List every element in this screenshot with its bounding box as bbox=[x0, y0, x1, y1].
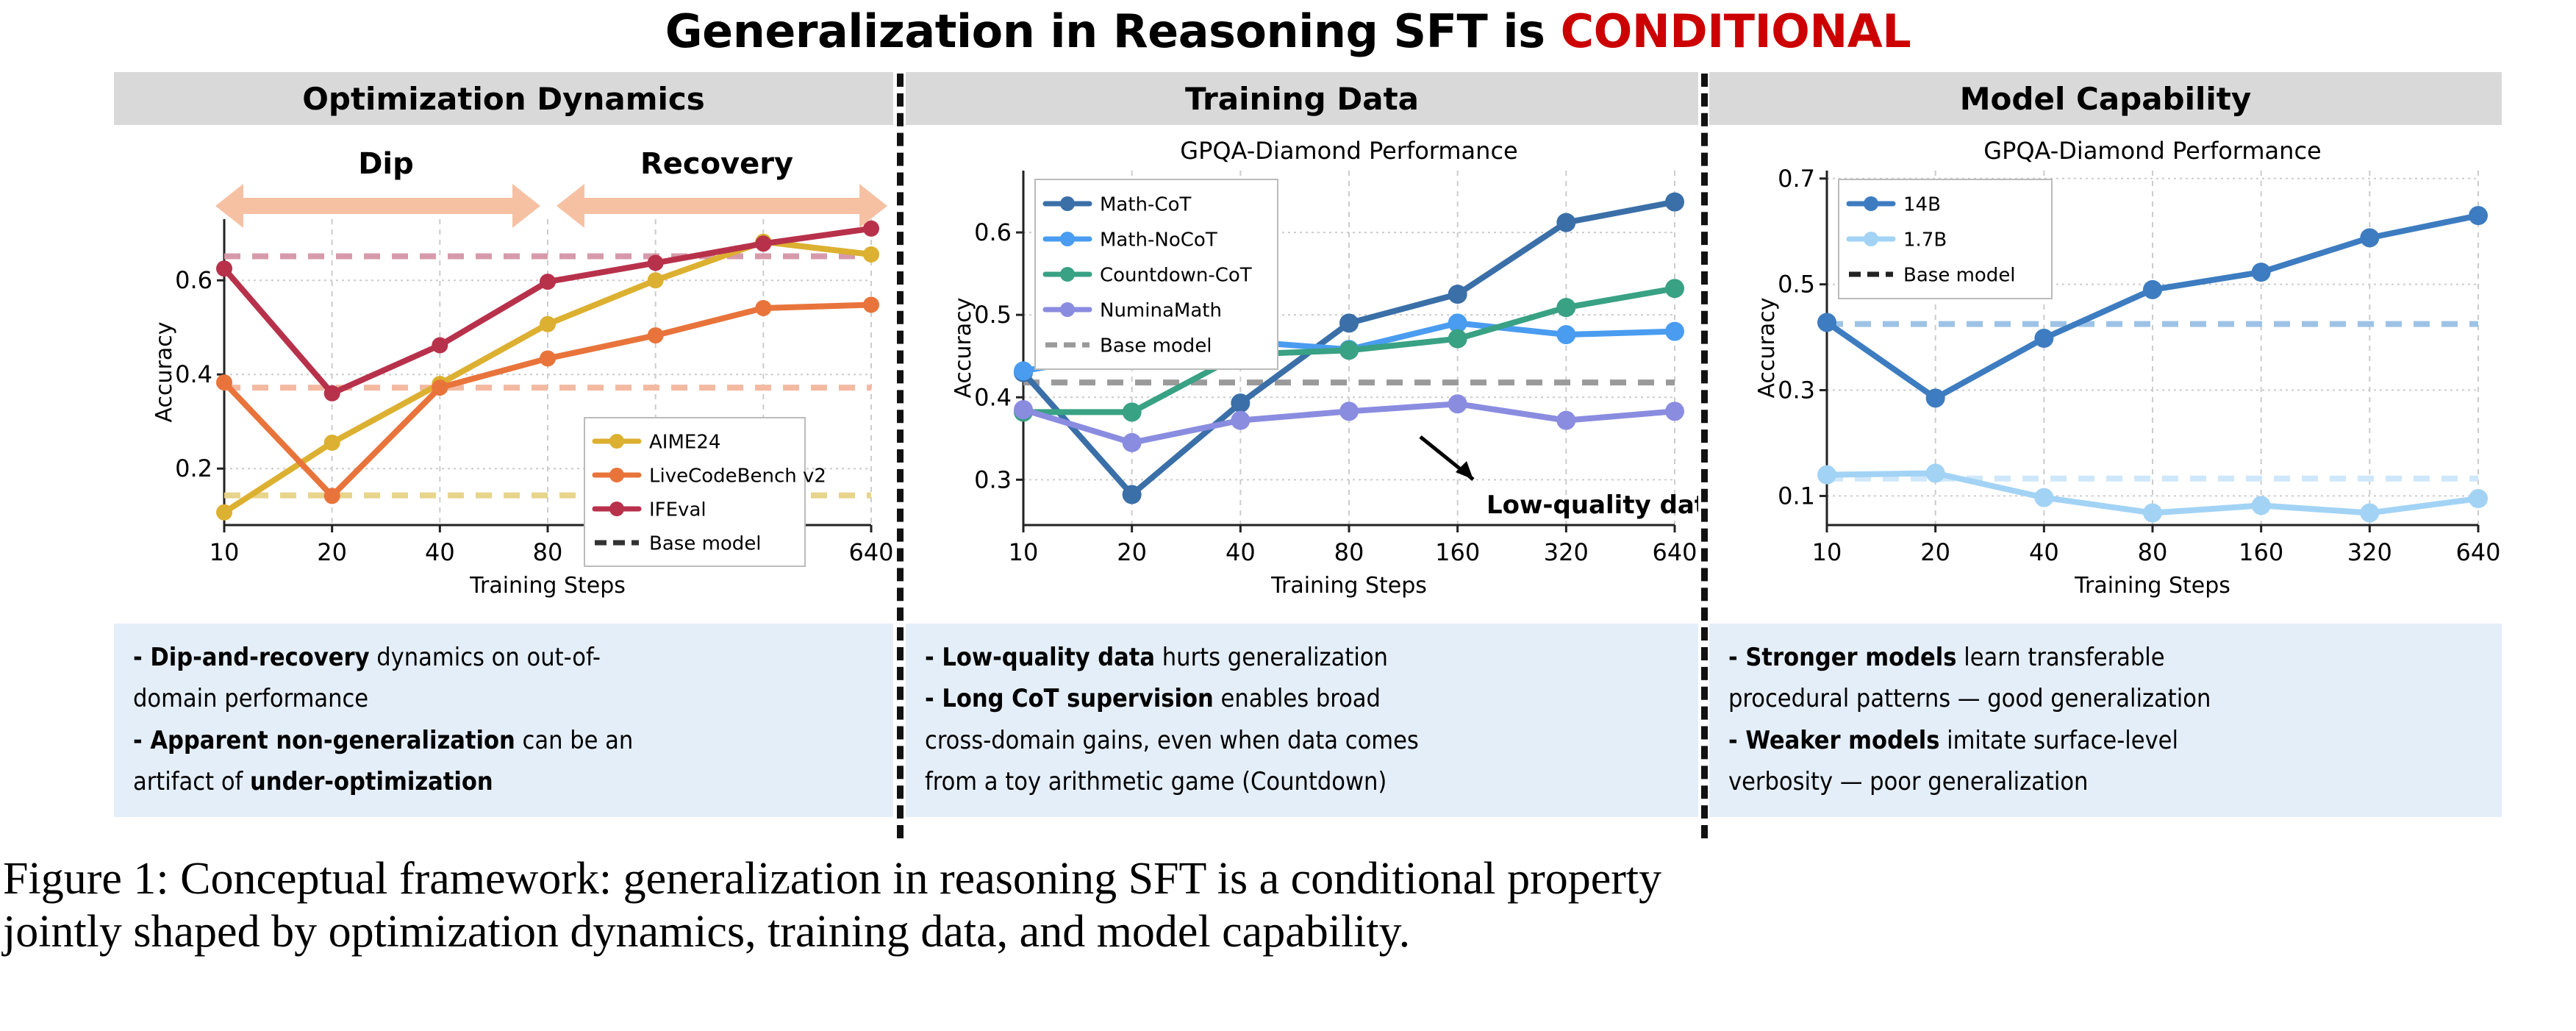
x-tick-label: 640 bbox=[1652, 538, 1697, 566]
data-point bbox=[1665, 322, 1684, 341]
note-bold: - Apparent non-generalization bbox=[133, 726, 515, 755]
data-point bbox=[1665, 193, 1684, 212]
note-line: - Dip-and-recovery dynamics on out-of- bbox=[133, 640, 874, 675]
x-axis-label: Training Steps bbox=[2074, 573, 2230, 599]
note-text: verbosity — poor generalization bbox=[1728, 767, 2088, 796]
data-point bbox=[1556, 325, 1575, 344]
legend-label: Base model bbox=[1903, 265, 2016, 287]
data-point bbox=[1123, 433, 1142, 452]
y-tick-label: 0.5 bbox=[1778, 271, 1815, 299]
caption-line-2: jointly shaped by optimization dynamics,… bbox=[3, 906, 2573, 959]
note-line: domain performance bbox=[133, 681, 874, 716]
notes-training-data: - Low-quality data hurts generalization … bbox=[906, 624, 1698, 817]
data-point bbox=[863, 296, 879, 313]
data-point bbox=[1665, 279, 1684, 298]
data-point bbox=[2360, 228, 2379, 247]
note-text: can be an bbox=[515, 726, 633, 755]
data-point bbox=[1817, 465, 1836, 485]
band-label: Recovery bbox=[640, 147, 793, 181]
legend-marker bbox=[609, 434, 624, 449]
x-tick-label: 20 bbox=[1117, 538, 1147, 566]
data-point bbox=[1448, 329, 1467, 349]
legend-label: Countdown-CoT bbox=[1100, 265, 1252, 287]
legend-label: NuminaMath bbox=[1100, 300, 1222, 322]
data-point bbox=[2360, 503, 2379, 522]
legend-label: LiveCodeBench v2 bbox=[649, 465, 826, 487]
data-point bbox=[648, 255, 664, 271]
data-point bbox=[540, 274, 556, 290]
x-tick-label: 320 bbox=[2347, 538, 2392, 566]
data-point bbox=[1926, 388, 1945, 407]
data-point bbox=[432, 338, 448, 354]
data-point bbox=[432, 379, 448, 396]
notes-model-capability: - Stronger models learn transferable pro… bbox=[1709, 624, 2502, 817]
annotation-low-quality-data: Low-quality data bbox=[1486, 490, 1698, 520]
data-point bbox=[1014, 361, 1033, 380]
note-text: artifact of bbox=[133, 767, 250, 796]
note-line: from a toy arithmetic game (Countdown) bbox=[925, 764, 1679, 799]
legend-label: Math-NoCoT bbox=[1100, 229, 1217, 251]
chart-title: GPQA-Diamond Performance bbox=[1180, 137, 1517, 165]
note-line: - Weaker models imitate surface-level bbox=[1728, 723, 2483, 758]
legend-label: IFEval bbox=[649, 499, 706, 521]
panel-divider-2 bbox=[1701, 74, 1708, 838]
double-arrow-icon bbox=[215, 184, 540, 228]
data-point bbox=[2252, 263, 2271, 282]
y-axis-label: Accuracy bbox=[1754, 298, 1780, 399]
chart-legend: 14B1.7BBase model bbox=[1839, 179, 2052, 299]
data-point bbox=[2469, 206, 2488, 225]
title-main: Generalization in Reasoning SFT is bbox=[665, 4, 1561, 58]
page-title: Generalization in Reasoning SFT is CONDI… bbox=[0, 4, 2576, 58]
data-point bbox=[863, 246, 879, 263]
data-point bbox=[1556, 411, 1575, 430]
caption-line-1: Figure 1: Conceptual framework: generali… bbox=[3, 853, 2573, 906]
note-bold: - Weaker models bbox=[1728, 726, 1939, 755]
panel-header-model-capability: Model Capability bbox=[1709, 72, 2502, 125]
note-line: cross-domain gains, even when data comes bbox=[925, 723, 1679, 758]
x-tick-label: 80 bbox=[533, 538, 563, 566]
y-tick-label: 0.5 bbox=[974, 301, 1012, 329]
legend-label: Math-CoT bbox=[1100, 194, 1191, 216]
data-point bbox=[2143, 503, 2162, 522]
legend-marker bbox=[1864, 232, 1878, 246]
x-tick-label: 640 bbox=[2455, 538, 2500, 566]
x-tick-label: 40 bbox=[1226, 538, 1256, 566]
data-point bbox=[1339, 313, 1359, 332]
band-label: Dip bbox=[358, 147, 414, 181]
note-text: learn transferable bbox=[1957, 643, 2165, 672]
note-bold: - Stronger models bbox=[1728, 643, 1957, 672]
legend-marker bbox=[1060, 267, 1075, 282]
data-point bbox=[1448, 394, 1467, 413]
note-text: from a toy arithmetic game (Countdown) bbox=[925, 767, 1387, 796]
data-point bbox=[755, 300, 771, 316]
data-point bbox=[2034, 488, 2053, 507]
legend-label: AIME24 bbox=[649, 431, 720, 453]
data-point bbox=[540, 350, 556, 366]
x-tick-label: 160 bbox=[1435, 538, 1480, 566]
y-tick-label: 0.1 bbox=[1778, 482, 1815, 510]
chart-legend: Math-CoTMath-NoCoTCountdown-CoTNuminaMat… bbox=[1035, 179, 1278, 369]
note-line: - Low-quality data hurts generalization bbox=[925, 640, 1679, 675]
y-axis-label: Accuracy bbox=[951, 298, 976, 399]
note-text: cross-domain gains, even when data comes bbox=[925, 726, 1419, 755]
data-point bbox=[216, 260, 232, 277]
y-tick-label: 0.4 bbox=[175, 360, 212, 388]
panel-header-training-data: Training Data bbox=[906, 72, 1698, 125]
panel-training-data: Training Data GPQA-Diamond Performance0.… bbox=[906, 72, 1698, 817]
note-text: enables broad bbox=[1214, 684, 1381, 713]
legend-marker bbox=[609, 502, 624, 516]
x-tick-label: 320 bbox=[1544, 538, 1589, 566]
x-tick-label: 640 bbox=[848, 538, 893, 566]
note-text: hurts generalization bbox=[1155, 643, 1388, 672]
x-tick-label: 20 bbox=[317, 538, 347, 566]
legend-marker bbox=[1060, 302, 1075, 317]
y-tick-label: 0.6 bbox=[175, 266, 212, 294]
data-point bbox=[216, 504, 232, 521]
panel-model-capability: Model Capability GPQA-Diamond Performanc… bbox=[1709, 72, 2502, 817]
note-text: imitate surface-level bbox=[1939, 726, 2178, 755]
y-tick-label: 0.3 bbox=[974, 465, 1012, 493]
data-point bbox=[324, 435, 340, 451]
y-tick-label: 0.2 bbox=[175, 454, 212, 482]
title-highlight: CONDITIONAL bbox=[1561, 4, 1911, 58]
data-point bbox=[1448, 285, 1467, 304]
note-line: procedural patterns — good generalizatio… bbox=[1728, 681, 2483, 716]
legend-marker bbox=[1060, 196, 1075, 211]
note-bold: - Dip-and-recovery bbox=[133, 643, 370, 672]
notes-optimization-dynamics: - Dip-and-recovery dynamics on out-of- d… bbox=[114, 624, 893, 817]
x-tick-label: 80 bbox=[2138, 538, 2168, 566]
data-point bbox=[1339, 402, 1359, 421]
note-text: dynamics on out-of- bbox=[370, 643, 601, 672]
data-point bbox=[1231, 393, 1250, 413]
data-point bbox=[216, 374, 232, 390]
data-point bbox=[1123, 402, 1142, 421]
data-point bbox=[2252, 496, 2271, 515]
legend-label: Base model bbox=[1100, 335, 1212, 357]
data-point bbox=[648, 327, 664, 343]
note-line: - Long CoT supervision enables broad bbox=[925, 681, 1679, 716]
data-point bbox=[1339, 340, 1359, 360]
legend-marker bbox=[1060, 232, 1075, 246]
chart-title: GPQA-Diamond Performance bbox=[1983, 137, 2321, 165]
x-tick-label: 40 bbox=[2029, 538, 2059, 566]
legend-marker bbox=[609, 468, 624, 482]
chart-training-data: GPQA-Diamond Performance0.30.40.50.61020… bbox=[906, 125, 1698, 619]
data-point bbox=[1556, 298, 1575, 317]
x-axis-label: Training Steps bbox=[1270, 573, 1427, 599]
data-point bbox=[2469, 489, 2488, 508]
data-point bbox=[1123, 485, 1142, 504]
note-line: artifact of under-optimization bbox=[133, 764, 874, 799]
note-bold: - Low-quality data bbox=[925, 643, 1155, 672]
data-point bbox=[324, 385, 340, 402]
legend-label: 1.7B bbox=[1903, 229, 1947, 251]
data-point bbox=[1926, 463, 1945, 482]
panel-optimization-dynamics: Optimization Dynamics 0.20.40.6102040801… bbox=[114, 72, 893, 817]
legend-marker bbox=[1864, 196, 1878, 211]
note-line: - Apparent non-generalization can be an bbox=[133, 723, 874, 758]
chart-model-capability: GPQA-Diamond Performance0.10.30.50.71020… bbox=[1709, 125, 2502, 619]
annotation-band: Recovery bbox=[557, 147, 887, 228]
x-tick-label: 160 bbox=[2239, 538, 2283, 566]
chart-legend: AIME24LiveCodeBench v2IFEvalBase model bbox=[584, 418, 826, 566]
note-text: procedural patterns — good generalizatio… bbox=[1728, 684, 2211, 713]
data-point bbox=[2143, 280, 2162, 299]
note-text: domain performance bbox=[133, 684, 368, 713]
x-tick-label: 40 bbox=[425, 538, 455, 566]
data-point bbox=[1665, 402, 1684, 421]
legend-label: 14B bbox=[1903, 194, 1941, 216]
y-axis-label: Accuracy bbox=[151, 322, 177, 423]
legend-label: Base model bbox=[649, 532, 762, 554]
data-point bbox=[324, 488, 340, 504]
y-tick-label: 0.3 bbox=[1778, 377, 1815, 404]
note-line: - Stronger models learn transferable bbox=[1728, 640, 2483, 675]
y-tick-label: 0.4 bbox=[974, 383, 1012, 411]
data-point bbox=[755, 235, 771, 251]
data-point bbox=[1817, 313, 1836, 332]
double-arrow-icon bbox=[557, 184, 887, 228]
x-tick-label: 80 bbox=[1334, 538, 1364, 566]
x-tick-label: 10 bbox=[1812, 538, 1842, 566]
data-point bbox=[540, 316, 556, 332]
chart-optimization-dynamics: 0.20.40.610204080160320640Training Steps… bbox=[114, 125, 893, 619]
y-tick-label: 0.7 bbox=[1778, 165, 1815, 193]
x-tick-label: 20 bbox=[1920, 538, 1950, 566]
data-point bbox=[1014, 400, 1033, 419]
data-point bbox=[1556, 213, 1575, 232]
data-point bbox=[648, 272, 664, 288]
x-tick-label: 10 bbox=[210, 538, 240, 566]
annotation-band: Dip bbox=[215, 147, 540, 228]
note-bold: under-optimization bbox=[250, 767, 493, 796]
x-tick-label: 10 bbox=[1009, 538, 1039, 566]
y-tick-label: 0.6 bbox=[974, 218, 1012, 246]
panel-header-optimization-dynamics: Optimization Dynamics bbox=[114, 72, 893, 125]
x-axis-label: Training Steps bbox=[469, 573, 626, 599]
panel-divider-1 bbox=[897, 74, 904, 838]
figure-caption: Figure 1: Conceptual framework: generali… bbox=[3, 853, 2573, 959]
note-bold: - Long CoT supervision bbox=[925, 684, 1214, 713]
note-line: verbosity — poor generalization bbox=[1728, 764, 2483, 799]
data-point bbox=[1231, 411, 1250, 430]
data-point bbox=[2034, 329, 2053, 348]
